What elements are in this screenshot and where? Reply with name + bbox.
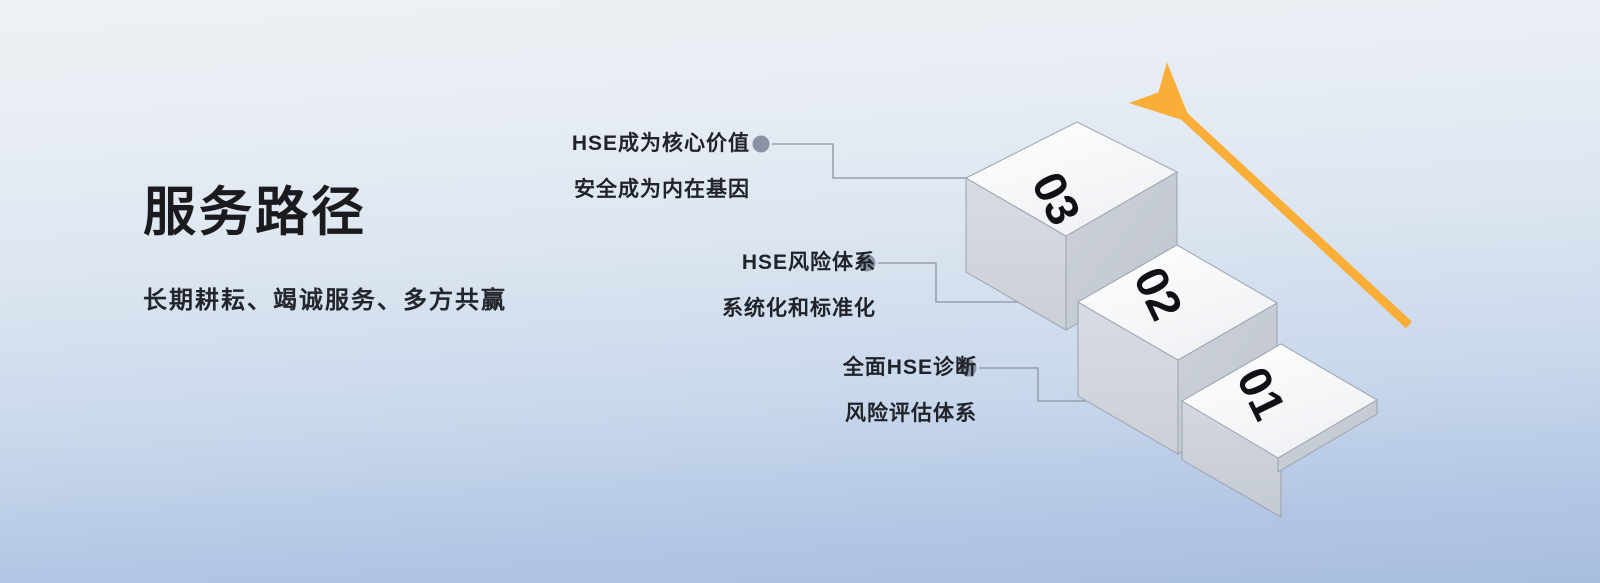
- connector-dot-03: [753, 136, 770, 153]
- step-label-03: HSE成为核心价值 安全成为内在基因: [370, 133, 750, 200]
- step-01-line2: 风险评估体系: [597, 403, 977, 424]
- step-03-line1: HSE成为核心价值: [370, 133, 750, 154]
- step-label-02: HSE风险体系 系统化和标准化: [496, 252, 876, 319]
- step-03-line2: 安全成为内在基因: [370, 179, 750, 200]
- step-02-line1: HSE风险体系: [496, 252, 876, 273]
- step-label-01: 全面HSE诊断 风险评估体系: [597, 357, 977, 424]
- connector-step-03: [772, 144, 975, 178]
- step-01-line1: 全面HSE诊断: [597, 357, 977, 378]
- slide-canvas: 服务路径 长期耕耘、竭诚服务、多方共赢: [0, 0, 1600, 583]
- step-02-line2: 系统化和标准化: [496, 298, 876, 319]
